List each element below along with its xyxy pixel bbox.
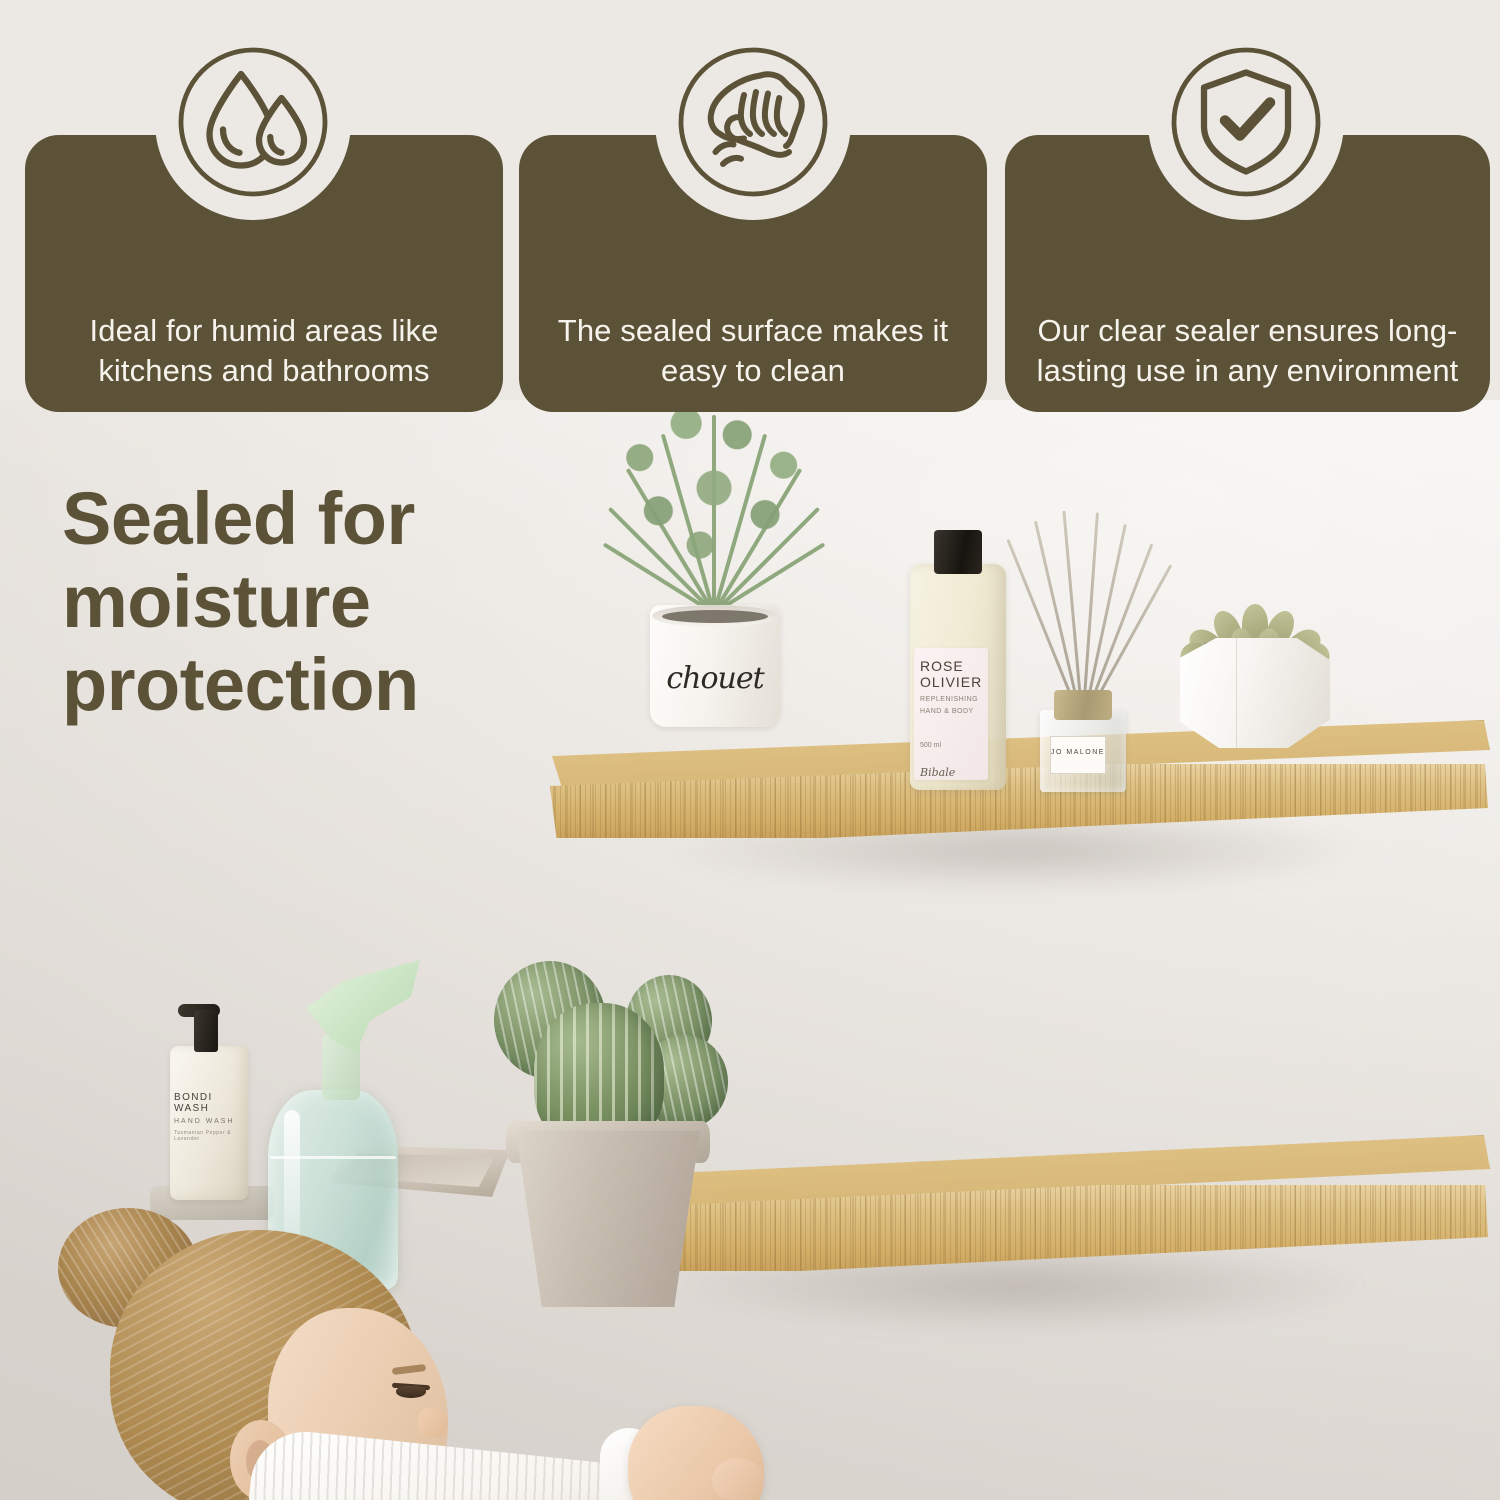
- bondi-scent-name: Tasmanian Pepper & Lavender: [174, 1130, 240, 1142]
- pump-head: [194, 1010, 218, 1052]
- bondi-wash-hand-wash-bottle: BONDI WASH HAND WASH Tasmanian Pepper & …: [170, 1000, 248, 1200]
- bottle-label-script: Bibale: [920, 766, 955, 779]
- shield-check-icon: [1148, 24, 1344, 220]
- thumb: [712, 1458, 764, 1500]
- jo-malone-reed-diffuser: JO MALONE: [1020, 550, 1140, 795]
- feature-card-text: Our clear sealer ensures long-lasting us…: [1023, 311, 1472, 390]
- hand-wiping-cloth-icon: [655, 24, 851, 220]
- bottle-label-line3: REPLENISHING: [920, 696, 978, 703]
- rose-olivier-bottle: ROSE OLIVIER REPLENISHING HAND & BODY 50…: [910, 530, 1006, 790]
- bottle-label-line2: OLIVIER: [920, 674, 982, 690]
- feature-cards: Ideal for humid areas like kitchens and …: [0, 0, 1500, 420]
- bottle-label-line4: HAND & BODY: [920, 708, 974, 715]
- bottle-label-line1: ROSE: [920, 658, 964, 674]
- water-droplets-icon: [155, 24, 351, 220]
- bottle-cap: [934, 530, 982, 574]
- eye: [396, 1386, 426, 1398]
- bondi-brand-name: BONDI WASH: [174, 1092, 240, 1114]
- white-ceramic-plant-pot: chouet: [650, 605, 780, 735]
- bottle-label: BONDI WASH HAND WASH Tasmanian Pepper & …: [174, 1092, 240, 1142]
- diffuser-label: JO MALONE: [1050, 736, 1106, 774]
- bondi-product-name: HAND WASH: [174, 1118, 240, 1125]
- pot-script-label: chouet: [660, 661, 770, 696]
- product-marketing-image: chouet ROSE OLIVIER REPLENISHING HAND & …: [0, 0, 1500, 1500]
- geometric-white-planter: [1180, 610, 1330, 760]
- pot-opening: [662, 610, 768, 623]
- page-title: Sealed for moisture protection: [62, 478, 492, 727]
- bottle-label-volume: 500 ml: [920, 742, 941, 749]
- upper-arm-sleeve: [244, 1426, 655, 1500]
- planter-facet-line: [1236, 638, 1237, 748]
- feature-card-text: Ideal for humid areas like kitchens and …: [43, 311, 485, 390]
- diffuser-label-text: JO MALONE: [1051, 749, 1105, 756]
- planter-body: [1180, 638, 1330, 748]
- young-girl: [0, 1190, 830, 1500]
- diffuser-collar: [1054, 690, 1112, 720]
- feature-card-text: The sealed surface makes it easy to clea…: [537, 311, 969, 390]
